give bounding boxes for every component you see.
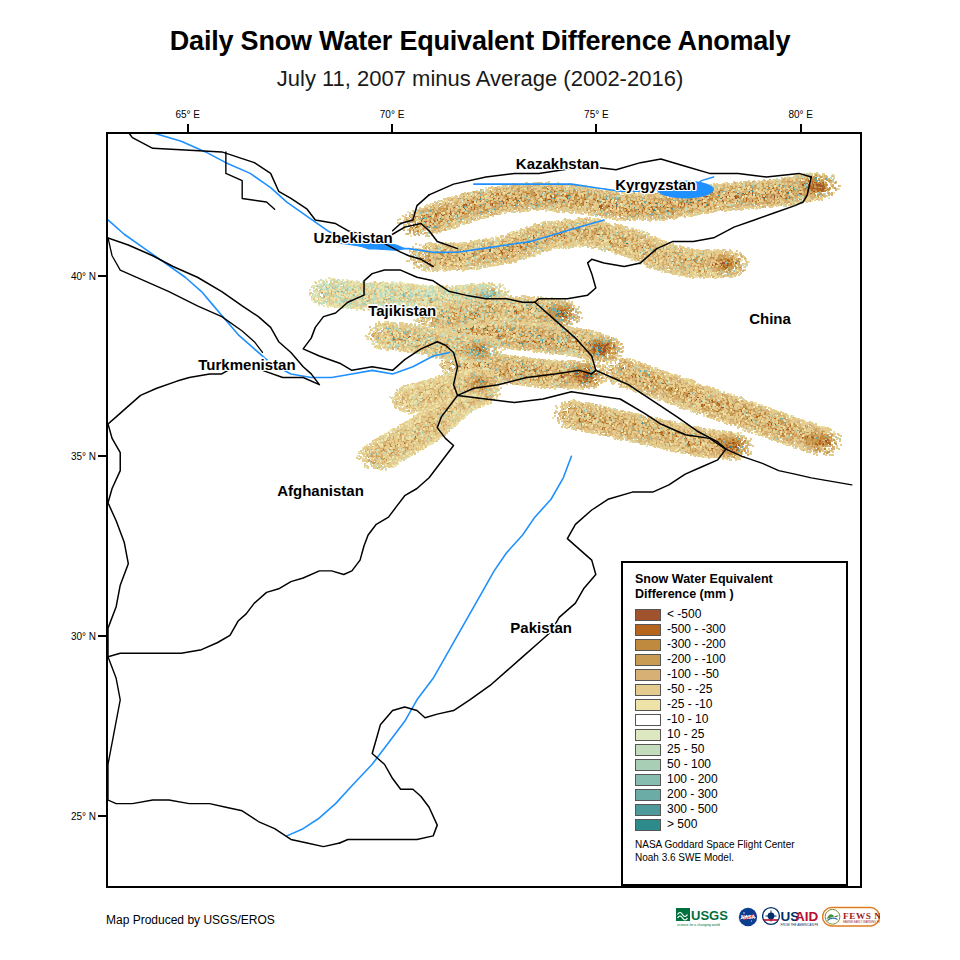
- nasa-logo: NASA: [738, 907, 758, 927]
- legend-entry-label: 300 - 500: [667, 803, 718, 816]
- legend-entry-label: < -500: [667, 608, 701, 621]
- latitude-tick-mark: [98, 635, 106, 637]
- latitude-tick-mark: [98, 815, 106, 817]
- legend-entry-label: 10 - 25: [667, 728, 704, 741]
- legend-swatch: [635, 639, 661, 651]
- svg-text:AID: AID: [795, 909, 818, 924]
- legend-entry-label: -300 - -200: [667, 638, 726, 651]
- legend-entry-label: 25 - 50: [667, 743, 704, 756]
- legend-title: Snow Water Equivalent Difference (mm ): [635, 572, 836, 602]
- legend-entry: 10 - 25: [635, 727, 836, 742]
- legend-source-note: NASA Goddard Space Flight Center Noah 3.…: [635, 839, 836, 864]
- page-title: Daily Snow Water Equivalent Difference A…: [0, 0, 960, 57]
- lake-issyk-kul: [657, 181, 714, 199]
- svg-text:USGS: USGS: [691, 908, 728, 923]
- longitude-tick-label: 70° E: [380, 109, 405, 120]
- legend-entry: > 500: [635, 817, 836, 832]
- svg-text:NASA: NASA: [741, 914, 756, 920]
- latitude-tick-mark: [98, 275, 106, 277]
- longitude-tick-mark: [187, 124, 189, 132]
- longitude-tick-label: 65° E: [175, 109, 200, 120]
- legend-entry: -500 - -300: [635, 622, 836, 637]
- latitude-tick-label: 40° N: [50, 271, 96, 282]
- legend-swatch: [635, 819, 661, 831]
- longitude-tick-mark: [800, 124, 802, 132]
- latitude-tick-mark: [98, 455, 106, 457]
- legend-swatch: [635, 609, 661, 621]
- svg-text:FEWS NET: FEWS NET: [843, 911, 880, 921]
- legend-entry: -25 - -10: [635, 697, 836, 712]
- logo-strip: USGS science for a changing world NASA U…: [676, 906, 880, 928]
- longitude-tick-mark: [391, 124, 393, 132]
- legend-swatch: [635, 774, 661, 786]
- legend-entry: -100 - -50: [635, 667, 836, 682]
- title-block: Daily Snow Water Equivalent Difference A…: [0, 0, 960, 92]
- legend-entry-label: -10 - 10: [667, 713, 708, 726]
- legend-entry: 25 - 50: [635, 742, 836, 757]
- legend-entry-label: -200 - -100: [667, 653, 726, 666]
- legend-swatch: [635, 624, 661, 636]
- legend-entry: -50 - -25: [635, 682, 836, 697]
- legend-entry: < -500: [635, 607, 836, 622]
- latitude-tick-label: 25° N: [50, 811, 96, 822]
- legend-entry: 300 - 500: [635, 802, 836, 817]
- legend-entry: -200 - -100: [635, 652, 836, 667]
- svg-text:science for a changing world: science for a changing world: [677, 923, 720, 927]
- legend-entry: 50 - 100: [635, 757, 836, 772]
- page-subtitle: July 11, 2007 minus Average (2002-2016): [0, 57, 960, 92]
- legend-swatch: [635, 669, 661, 681]
- legend-swatch: [635, 744, 661, 756]
- longitude-tick-label: 80° E: [788, 109, 813, 120]
- latitude-tick-label: 35° N: [50, 451, 96, 462]
- legend-swatch: [635, 714, 661, 726]
- legend-entry-label: -25 - -10: [667, 698, 712, 711]
- legend-swatch: [635, 789, 661, 801]
- legend-entry-label: 50 - 100: [667, 758, 711, 771]
- legend-entry: 100 - 200: [635, 772, 836, 787]
- map-legend: Snow Water Equivalent Difference (mm ) <…: [621, 561, 848, 886]
- legend-entry-list: < -500-500 - -300-300 - -200-200 - -100-…: [635, 607, 836, 832]
- map-credit: Map Produced by USGS/EROS: [106, 913, 275, 927]
- latitude-tick-label: 30° N: [50, 631, 96, 642]
- legend-entry-label: -100 - -50: [667, 668, 719, 681]
- usaid-logo: US AID FROM THE AMERICAN PEOPLE: [762, 906, 818, 928]
- legend-entry: 200 - 300: [635, 787, 836, 802]
- legend-swatch: [635, 699, 661, 711]
- legend-entry-label: -50 - -25: [667, 683, 712, 696]
- legend-swatch: [635, 684, 661, 696]
- legend-swatch: [635, 804, 661, 816]
- usgs-logo: USGS science for a changing world: [676, 906, 734, 928]
- legend-swatch: [635, 654, 661, 666]
- longitude-tick-label: 75° E: [584, 109, 609, 120]
- svg-text:FAMINE EARLY WARNING SYSTEMS N: FAMINE EARLY WARNING SYSTEMS NETWORK: [843, 920, 880, 924]
- legend-entry-label: 100 - 200: [667, 773, 718, 786]
- legend-entry-label: 200 - 300: [667, 788, 718, 801]
- legend-swatch: [635, 759, 661, 771]
- legend-entry: -10 - 10: [635, 712, 836, 727]
- legend-entry-label: -500 - -300: [667, 623, 726, 636]
- fews-net-logo: FEWS NET FAMINE EARLY WARNING SYSTEMS NE…: [822, 906, 880, 928]
- legend-entry: -300 - -200: [635, 637, 836, 652]
- svg-text:FROM THE AMERICAN PEOPLE: FROM THE AMERICAN PEOPLE: [781, 923, 819, 927]
- legend-entry-label: > 500: [667, 818, 697, 831]
- legend-swatch: [635, 729, 661, 741]
- longitude-tick-mark: [595, 124, 597, 132]
